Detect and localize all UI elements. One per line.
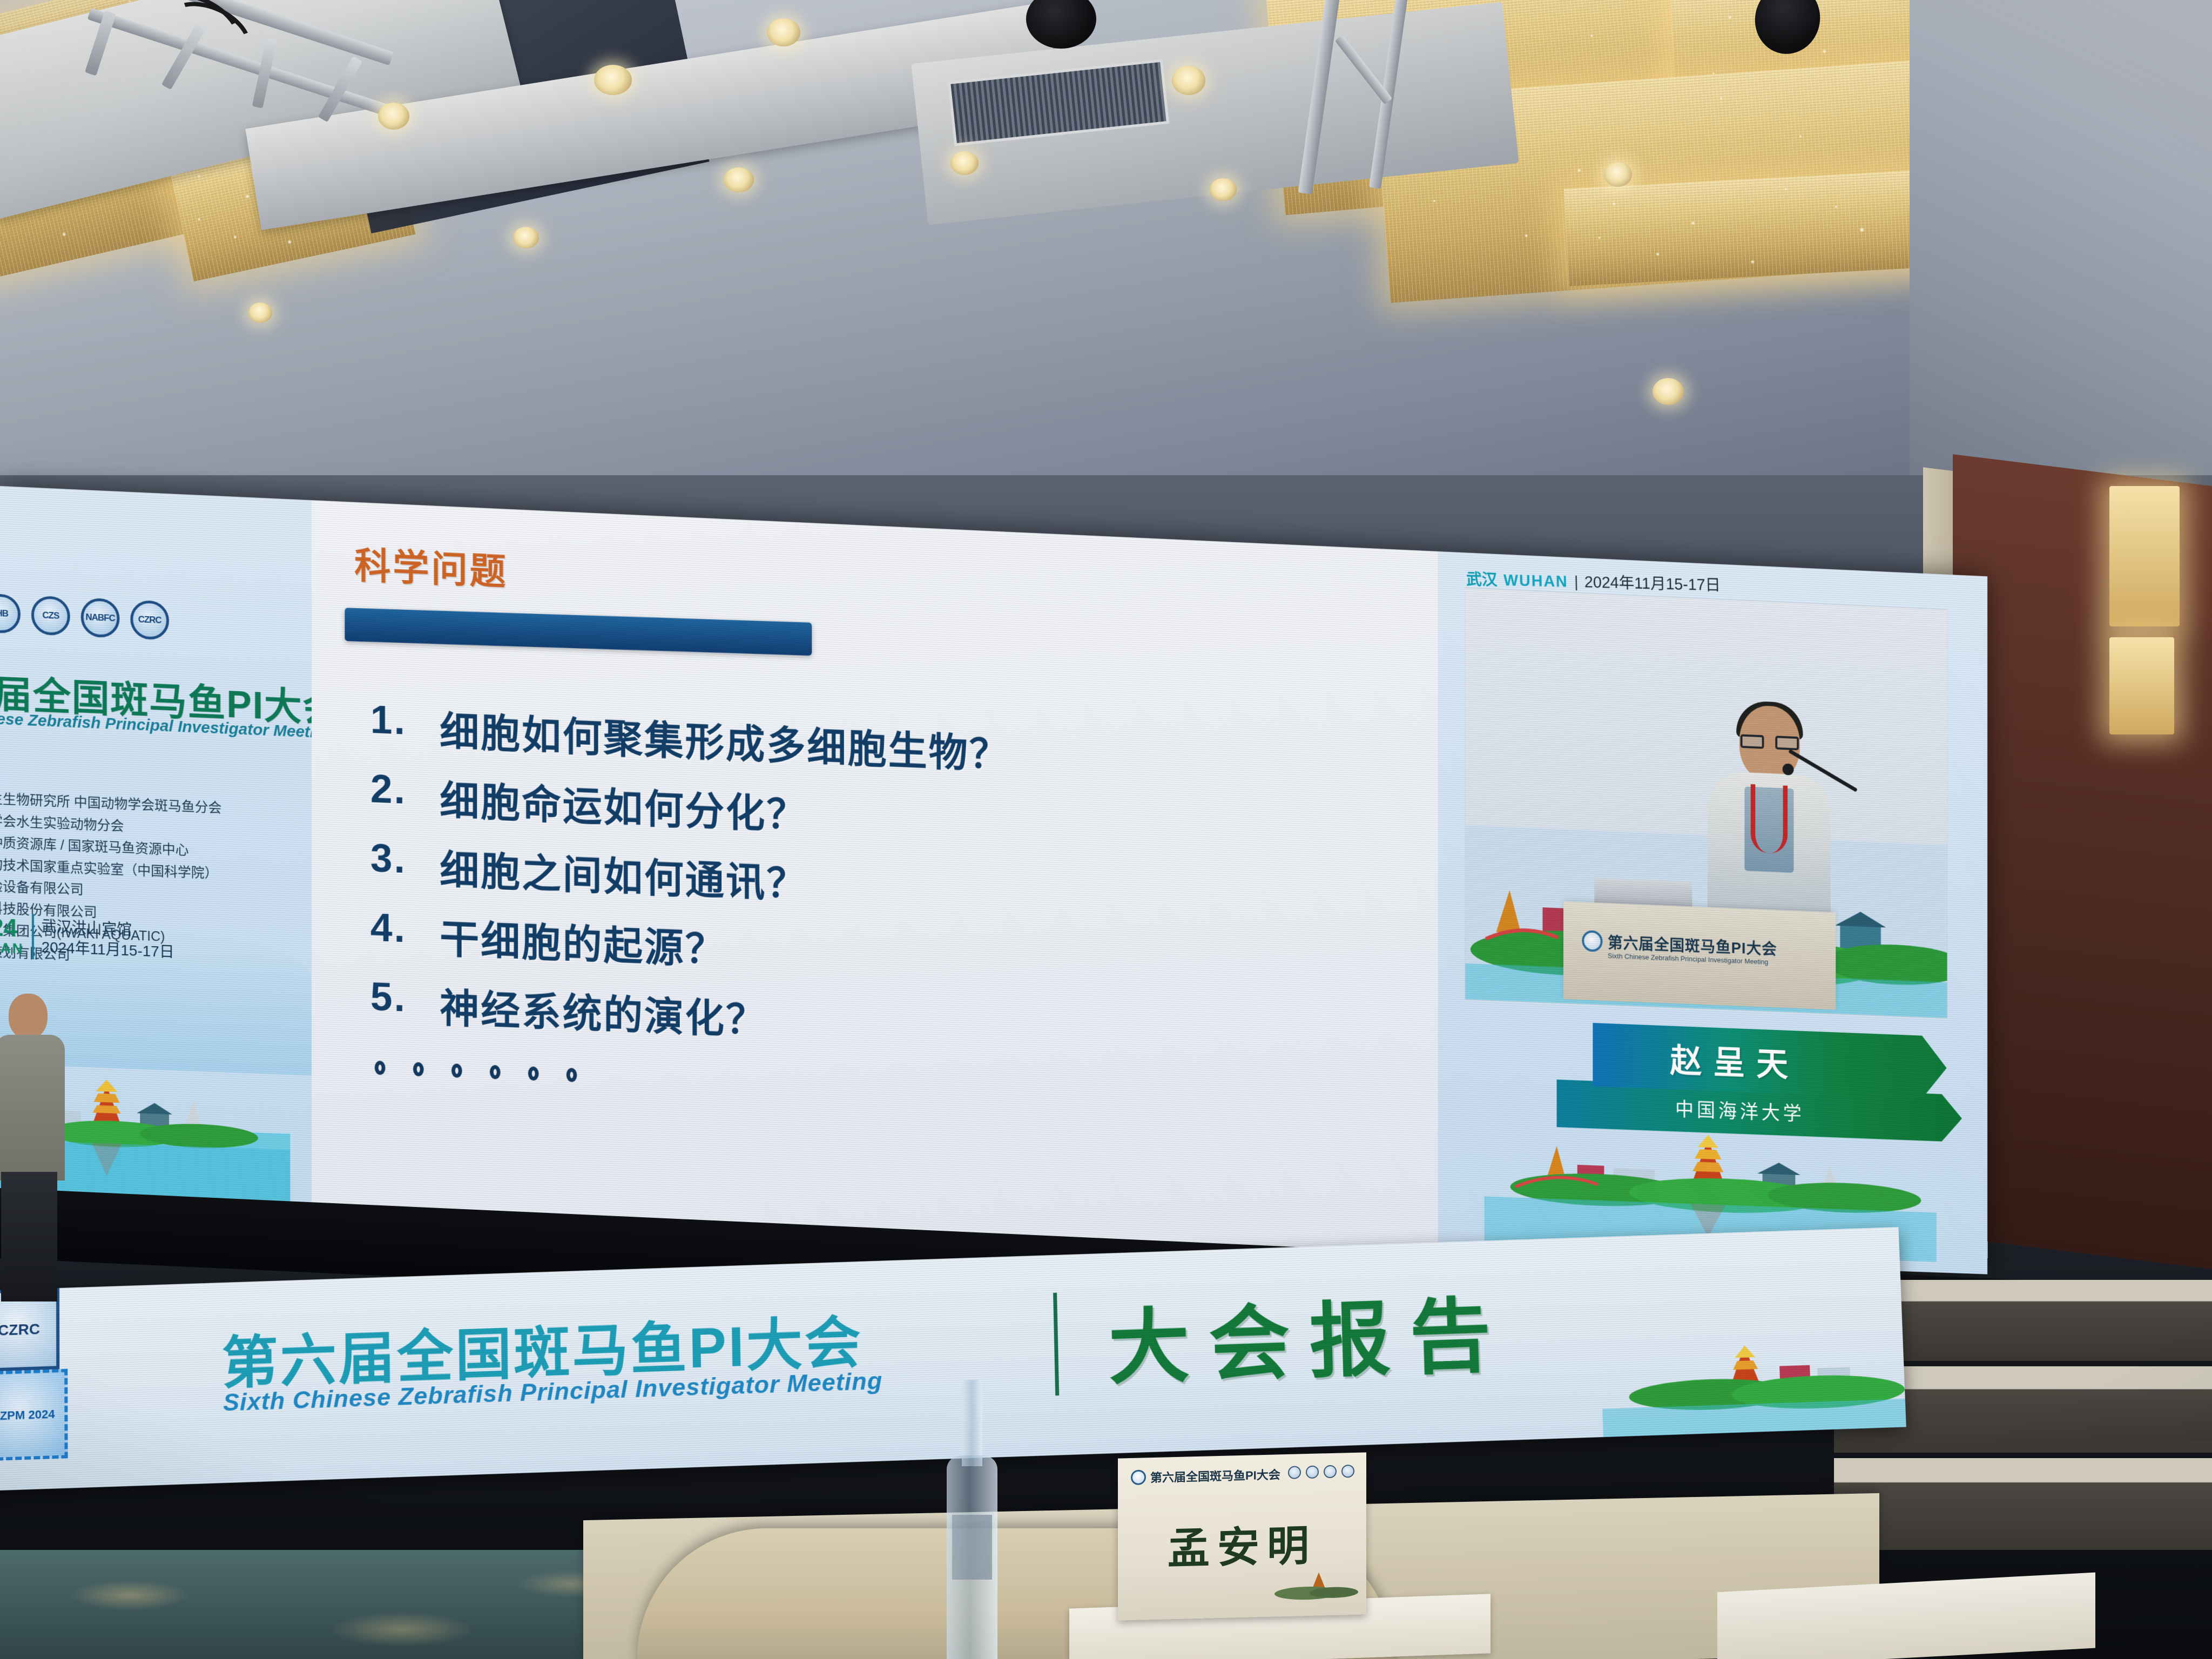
- place-name-card: 第六届全国斑马鱼PI大会 孟安明: [1118, 1452, 1366, 1620]
- recessed-downlight: [950, 151, 979, 175]
- conference-city-en: WUHAN: [0, 938, 24, 957]
- head: [9, 994, 48, 1039]
- ellipsis-dots: [375, 1061, 577, 1082]
- list-item-text: 细胞之间如何通讯？: [440, 838, 807, 909]
- list-item-text: 干细胞的起源？: [440, 907, 726, 975]
- led-video-wall: IHB CZS NABFC CZRC 第六届全国斑马鱼PI大会 Sixth Ch…: [0, 486, 2052, 1285]
- recessed-downlight: [767, 18, 800, 46]
- recessed-downlight: [1172, 66, 1205, 95]
- conference-hall-scene: IHB CZS NABFC CZRC 第六届全国斑马鱼PI大会 Sixth Ch…: [0, 0, 2212, 1659]
- organizer-logo-icon: [1288, 1466, 1301, 1479]
- speaker-name-band: 赵呈天: [1593, 1023, 1946, 1100]
- recessed-downlight: [1210, 178, 1237, 201]
- live-video-feed: 第六届全国斑马鱼PI大会 Sixth Chinese Zebrafish Pri…: [1465, 588, 1947, 1019]
- wall-sconce: [2109, 486, 2180, 626]
- organizer-logo-czrc: CZRC: [130, 600, 169, 640]
- ellipsis-dot: [413, 1062, 424, 1077]
- organizer-logo-icon: [1324, 1465, 1337, 1479]
- list-item-text: 神经系统的演化？: [440, 976, 766, 1046]
- recessed-downlight: [248, 302, 272, 323]
- recessed-downlight: [1604, 162, 1632, 187]
- carpet: [0, 1550, 648, 1659]
- header-city-cn: 武汉: [1466, 566, 1498, 590]
- footer-divider: [32, 914, 34, 959]
- torso: [0, 1035, 65, 1181]
- recessed-downlight: [1653, 378, 1684, 405]
- zebrafish-logo-icon: [1131, 1469, 1146, 1485]
- organizer-logo-nabfc: NABFC: [81, 598, 120, 638]
- organizer-logo-ihb: IHB: [0, 594, 21, 634]
- stair-step: [1834, 1458, 2212, 1550]
- recessed-downlight: [513, 227, 539, 248]
- standing-attendee: [0, 994, 65, 1296]
- recessed-downlight: [594, 65, 632, 95]
- ellipsis-dot: [490, 1065, 501, 1080]
- organizer-logo-icon: [1306, 1466, 1319, 1479]
- ellipsis-dot: [375, 1061, 386, 1075]
- name-card-header-text: 第六届全国斑马鱼PI大会: [1150, 1465, 1280, 1486]
- question-list: 1. 细胞如何聚集形成多细胞生物？ 2. 细胞命运如何分化？ 3. 细胞之间如何…: [370, 696, 1397, 1081]
- bottle-label: [952, 1515, 992, 1580]
- list-item-number: 2.: [370, 766, 419, 813]
- list-item-number: 3.: [370, 835, 419, 882]
- conference-year: 2024: [0, 913, 24, 940]
- list-item-number: 1.: [370, 696, 419, 744]
- speaker-name: 赵呈天: [1670, 1034, 1799, 1086]
- list-item-number: 4.: [370, 904, 419, 952]
- speaker-video-panel: 武汉 WUHAN | 2024年11月15-17日: [1438, 551, 1987, 1274]
- name-card-logo-row: [1288, 1465, 1354, 1479]
- organizer-logo-row: IHB CZS NABFC CZRC: [0, 594, 169, 640]
- wall-sconce: [2109, 637, 2174, 734]
- ceiling: [0, 0, 2212, 518]
- speaker-affiliation: 中国海洋大学: [1675, 1094, 1805, 1127]
- list-item-text: 细胞命运如何分化？: [440, 768, 807, 841]
- organizer-logo-icon: [1341, 1465, 1354, 1478]
- slide-accent-bar: [345, 608, 812, 656]
- water-bottle: [942, 1380, 1002, 1659]
- led-screen-surface: IHB CZS NABFC CZRC 第六届全国斑马鱼PI大会 Sixth Ch…: [0, 486, 1987, 1274]
- conference-footer: 2024 WUHAN 武汉洪山宾馆 2024年11月15-17日: [0, 911, 174, 965]
- bottle-neck: [962, 1380, 982, 1466]
- ellipsis-dot: [567, 1068, 577, 1082]
- header-city-en: WUHAN: [1503, 571, 1568, 591]
- list-item-number: 5.: [370, 974, 419, 1021]
- organizer-logo-czs: CZS: [31, 596, 70, 636]
- ellipsis-dot: [451, 1063, 462, 1078]
- slide-title: 科学问题: [354, 536, 508, 596]
- recessed-downlight: [378, 103, 409, 130]
- ellipsis-dot: [528, 1067, 539, 1081]
- presentation-slide: 科学问题 1. 细胞如何聚集形成多细胞生物？ 2. 细胞命运如何分化？ 3. 细…: [312, 500, 1438, 1255]
- list-item-text: 细胞如何聚集形成多细胞生物？: [440, 699, 1009, 780]
- recessed-downlight: [724, 167, 754, 192]
- legs: [1, 1172, 57, 1301]
- header-dates: 2024年11月15-17日: [1584, 569, 1721, 595]
- name-card-header: 第六届全国斑马鱼PI大会: [1131, 1465, 1280, 1486]
- header-separator: |: [1574, 574, 1579, 591]
- wuhan-skyline-illustration: [1258, 1556, 1361, 1608]
- video-scanline-overlay: [1465, 588, 1947, 1019]
